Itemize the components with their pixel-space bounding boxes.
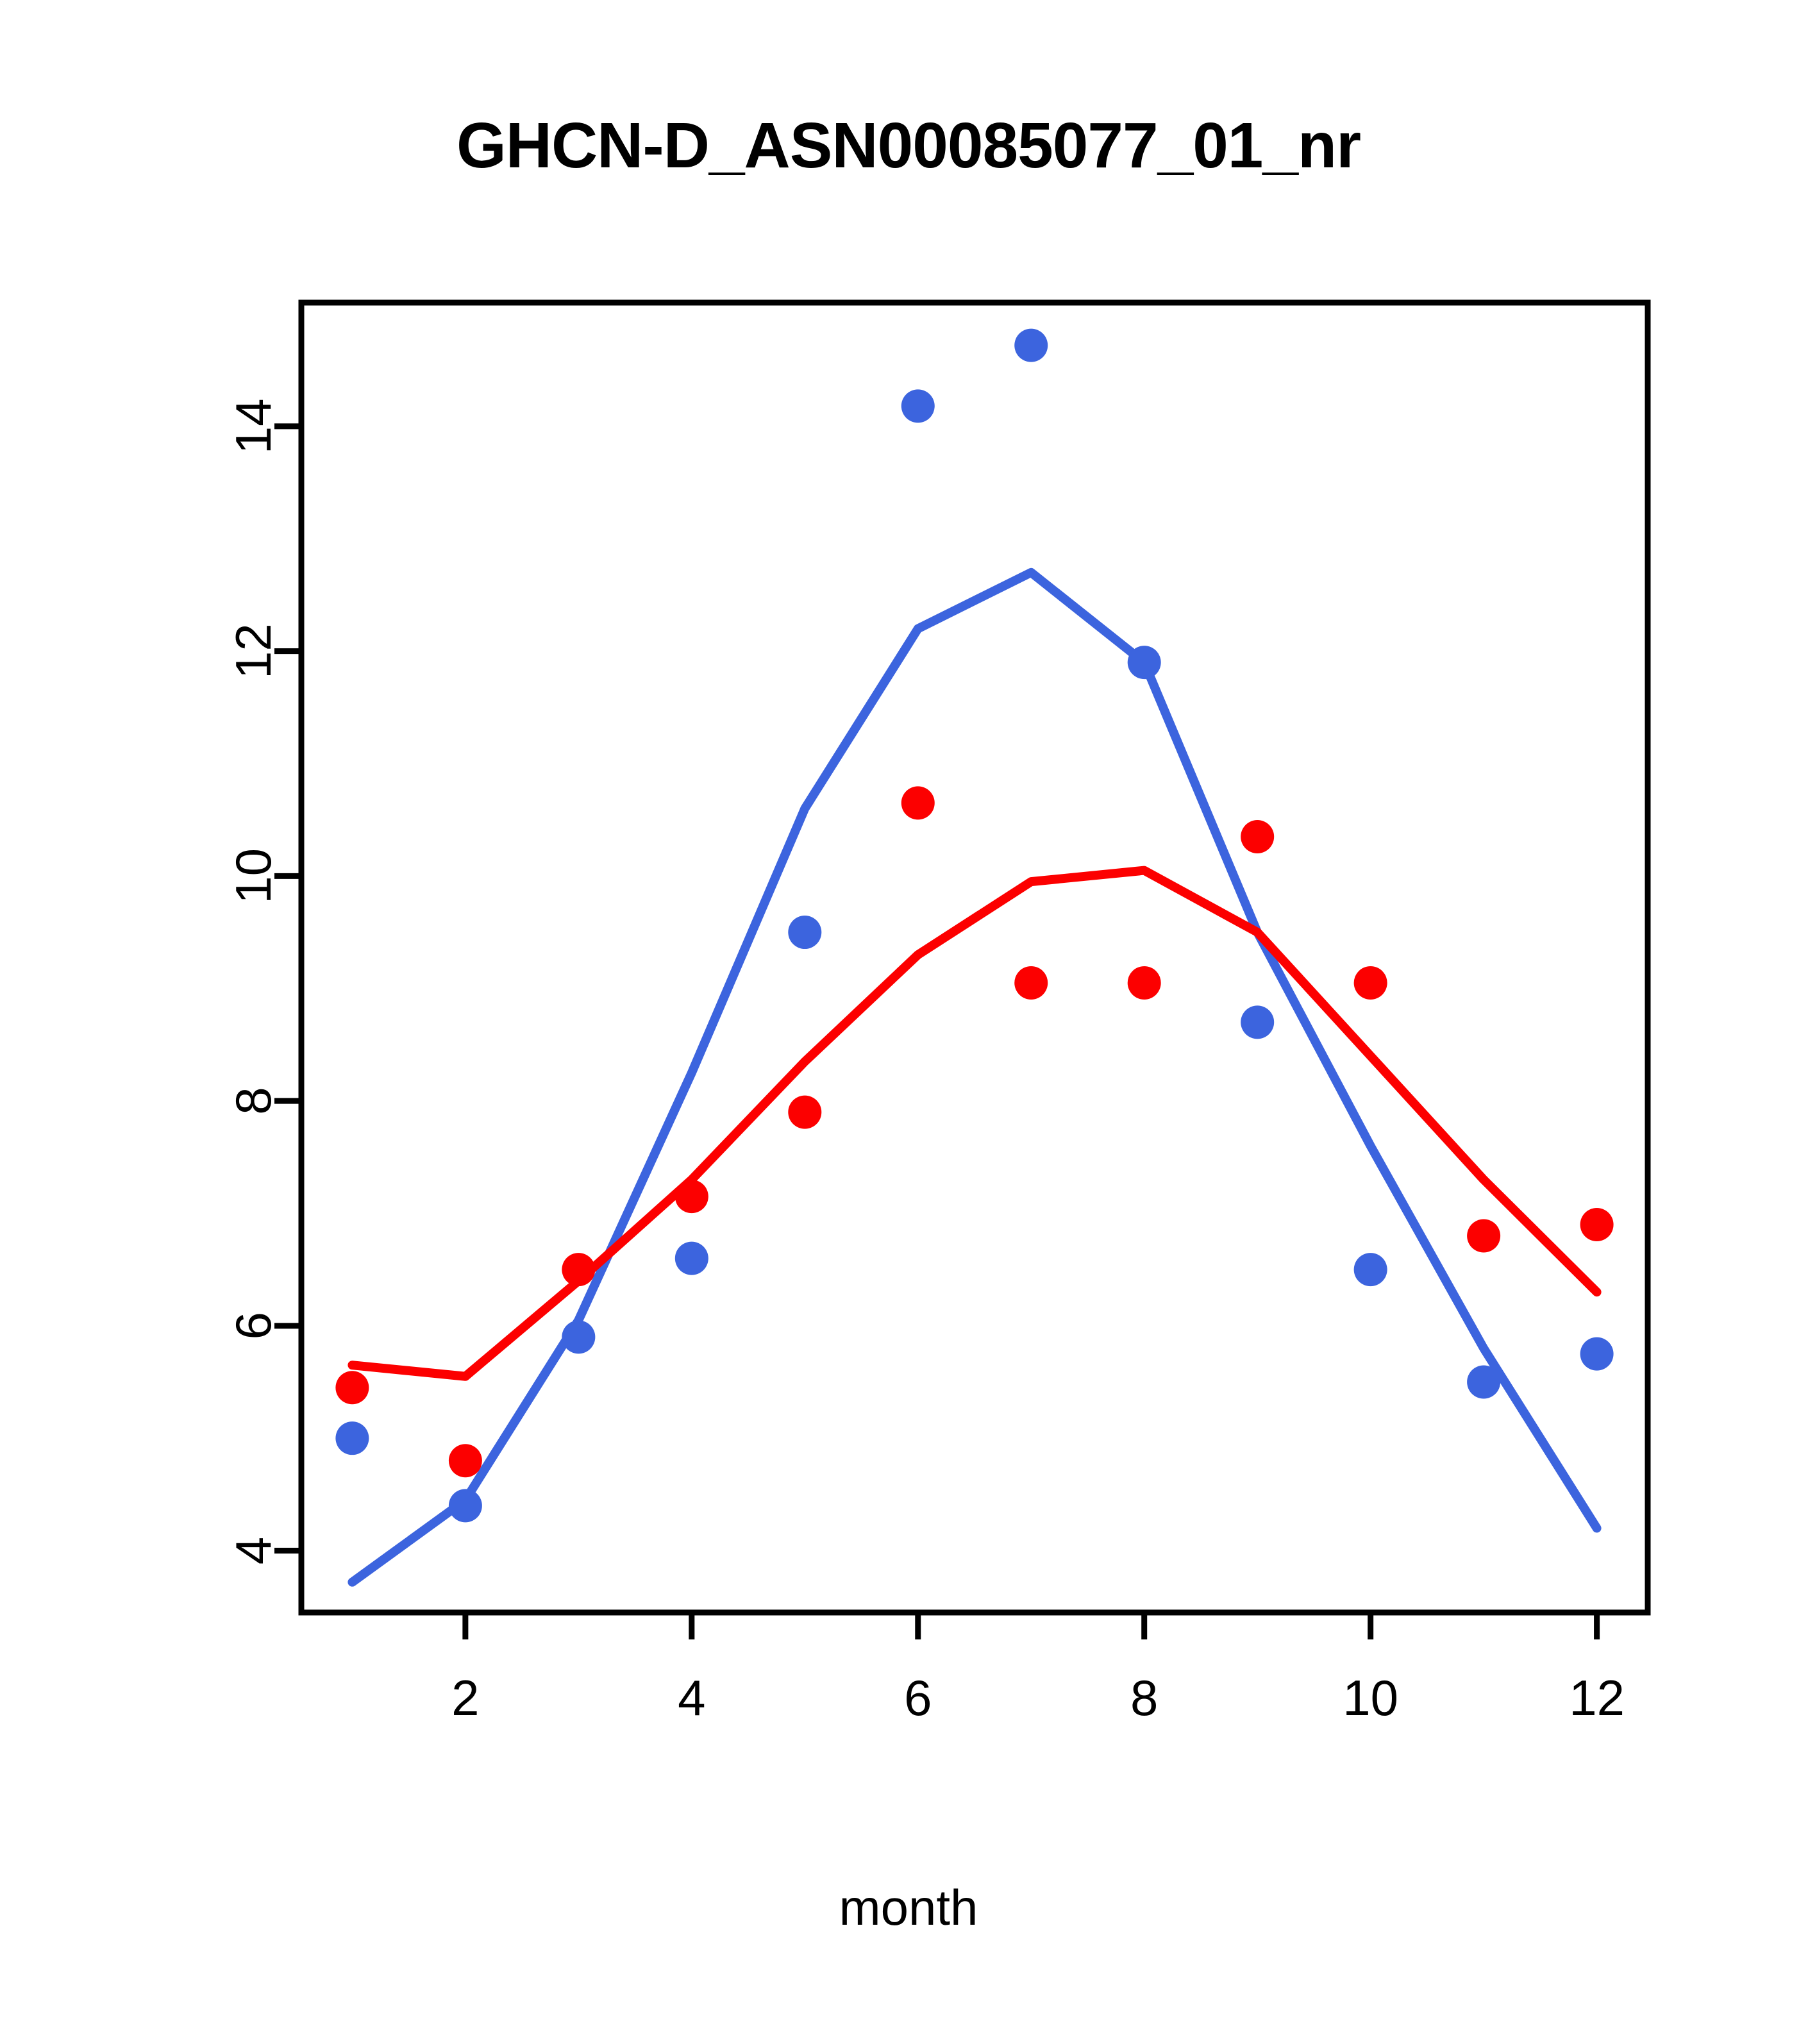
data-point-red-points — [1014, 966, 1048, 1000]
data-point-blue-points — [788, 916, 821, 949]
y-axis-tick-labels: 468101214 — [225, 399, 281, 1565]
x-tick-label: 6 — [904, 1670, 932, 1726]
data-point-red-points — [1241, 820, 1274, 853]
y-tick-label: 6 — [225, 1312, 281, 1339]
data-point-red-points — [562, 1253, 595, 1286]
data-point-red-points — [1580, 1208, 1614, 1241]
x-tick-label: 12 — [1569, 1670, 1625, 1726]
plot-area: 468101214 24681012 — [0, 0, 1817, 2044]
series-lines — [352, 573, 1596, 1582]
data-point-blue-points — [449, 1489, 482, 1522]
data-point-blue-points — [1580, 1337, 1614, 1371]
data-point-blue-points — [675, 1242, 708, 1275]
data-point-blue-points — [1241, 1005, 1274, 1039]
y-tick-label: 4 — [225, 1537, 281, 1564]
data-point-blue-points — [901, 389, 935, 423]
data-point-red-points — [1354, 966, 1387, 1000]
data-point-blue-points — [1354, 1253, 1387, 1286]
x-tick-label: 8 — [1130, 1670, 1158, 1726]
axes: 468101214 24681012 — [225, 303, 1648, 1726]
series-line-blue-line — [352, 573, 1596, 1582]
y-tick-label: 12 — [225, 623, 281, 679]
data-point-red-points — [449, 1444, 482, 1477]
data-point-red-points — [335, 1371, 369, 1404]
data-point-red-points — [675, 1180, 708, 1213]
x-axis-ticks — [465, 1613, 1597, 1639]
series-points — [335, 329, 1613, 1523]
data-point-blue-points — [1467, 1366, 1500, 1399]
x-tick-label: 2 — [451, 1670, 479, 1726]
data-point-blue-points — [335, 1421, 369, 1455]
data-point-blue-points — [1014, 329, 1048, 362]
x-tick-label: 10 — [1343, 1670, 1398, 1726]
data-point-blue-points — [1128, 646, 1161, 679]
x-axis-tick-labels: 24681012 — [451, 1670, 1625, 1726]
plot-frame — [301, 303, 1648, 1613]
data-point-red-points — [901, 786, 935, 819]
data-point-red-points — [788, 1096, 821, 1129]
x-axis-label: month — [0, 1879, 1817, 1937]
series-line-red-line — [352, 871, 1596, 1377]
data-point-red-points — [1128, 966, 1161, 1000]
data-point-blue-points — [562, 1320, 595, 1353]
y-tick-label: 10 — [225, 848, 281, 904]
y-tick-label: 14 — [225, 399, 281, 455]
data-point-red-points — [1467, 1219, 1500, 1253]
y-tick-label: 8 — [225, 1087, 281, 1114]
chart-figure: GHCN-D_ASN00085077_01_nr 468101214 24681… — [0, 0, 1817, 2044]
y-axis-ticks — [274, 426, 301, 1551]
x-tick-label: 4 — [678, 1670, 705, 1726]
